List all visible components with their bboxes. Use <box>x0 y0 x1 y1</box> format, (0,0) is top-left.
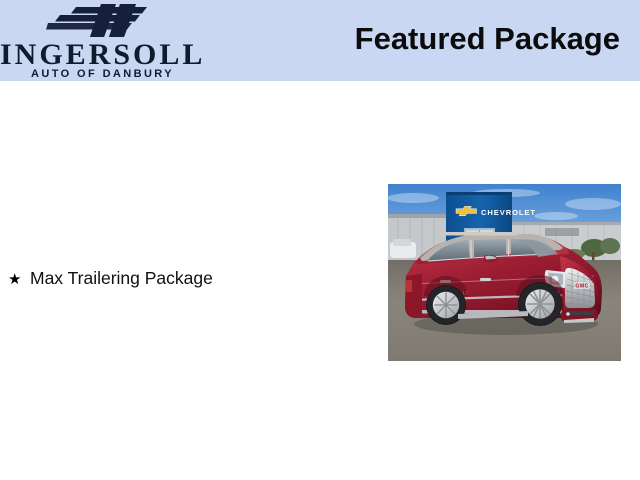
ingersoll-winged-monogram-icon <box>46 4 154 38</box>
list-item: ★ Max Trailering Package <box>8 266 338 292</box>
feature-label: Max Trailering Package <box>30 266 213 290</box>
dealer-tagline: AUTO OF DANBURY <box>0 68 205 80</box>
svg-text:GMC: GMC <box>575 284 588 290</box>
svg-text:CHEVROLET: CHEVROLET <box>481 208 536 217</box>
dealer-logo[interactable]: INGERSOLL AUTO OF DANBURY <box>0 2 205 80</box>
page-title: Featured Package <box>355 21 620 57</box>
star-bullet-icon: ★ <box>8 268 30 292</box>
feature-list: ★ Max Trailering Package <box>8 266 338 292</box>
vehicle-photo: CHEVROLET <box>388 184 621 361</box>
dealer-name: INGERSOLL <box>0 40 205 70</box>
